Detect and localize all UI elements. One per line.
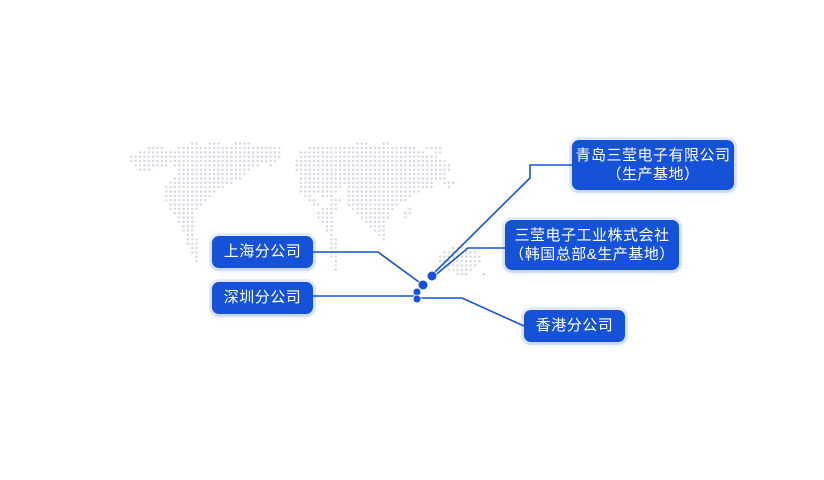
- map-canvas: 青岛三莹电子有限公司 （生产基地） 三莹电子工业株式会社 （韩国总部&生产基地）…: [0, 0, 824, 480]
- label-qingdao-line1: 青岛三莹电子有限公司: [575, 146, 730, 165]
- label-shenzhen-line1: 深圳分公司: [224, 288, 302, 307]
- marker-hongkong[interactable]: [414, 296, 421, 303]
- label-hongkong[interactable]: 香港分公司: [524, 310, 625, 342]
- label-korea-hq[interactable]: 三莹电子工业株式会社 （韩国总部&生产基地）: [505, 220, 679, 270]
- marker-shenzhen[interactable]: [414, 289, 421, 296]
- world-map-dotted: [0, 0, 824, 480]
- label-korea-line2: （韩国总部&生产基地）: [509, 245, 675, 264]
- label-korea-line1: 三莹电子工业株式会社: [514, 226, 669, 245]
- marker-qingdao[interactable]: [428, 272, 437, 281]
- label-qingdao-line2: （生产基地）: [606, 165, 699, 184]
- label-shanghai-line1: 上海分公司: [224, 242, 302, 261]
- label-shenzhen[interactable]: 深圳分公司: [212, 282, 313, 314]
- label-hongkong-line1: 香港分公司: [536, 316, 614, 335]
- label-shanghai[interactable]: 上海分公司: [212, 236, 313, 268]
- label-qingdao[interactable]: 青岛三莹电子有限公司 （生产基地）: [572, 140, 734, 190]
- marker-shanghai[interactable]: [419, 281, 428, 290]
